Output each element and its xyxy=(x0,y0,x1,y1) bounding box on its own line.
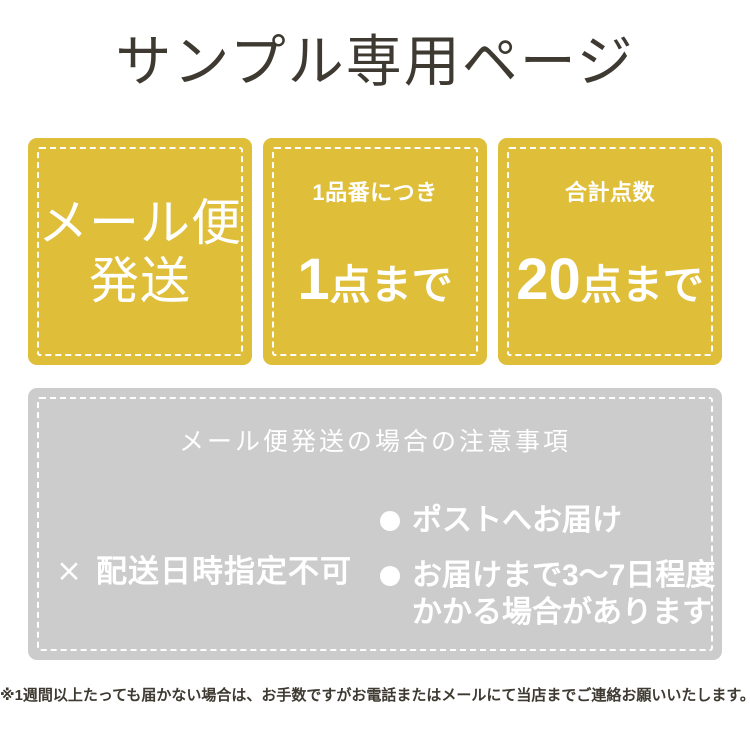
notice-bullet-label: ポストへお届け xyxy=(412,502,622,539)
card-per-item-limit-caption: 1品番につき xyxy=(263,180,487,206)
bullet-dot-icon xyxy=(380,566,400,586)
feature-card-row: メール便 発送 1品番につき 1点まで 合計点数 20点まで xyxy=(28,138,722,365)
card-per-item-limit-content: 1品番につき 1点まで xyxy=(263,180,487,323)
card-total-limit: 合計点数 20点まで xyxy=(498,138,722,365)
card-mail-delivery-line2: 発送 xyxy=(28,252,252,310)
card-per-item-limit: 1品番につき 1点まで xyxy=(263,138,487,365)
card-per-item-limit-number: 1 xyxy=(297,247,329,312)
card-per-item-limit-value: 1点まで xyxy=(263,252,487,323)
page-title: サンプル専用ページ xyxy=(0,30,750,96)
card-total-limit-value: 20点まで xyxy=(498,252,722,323)
card-mail-delivery: メール便 発送 xyxy=(28,138,252,365)
notice-restriction-label: 配送日時指定不可 xyxy=(96,556,352,587)
footnote-text: ※1週間以上たっても届かない場合は、お手数ですがお電話またはメールにて当店までご… xyxy=(0,686,750,706)
notice-bullet-list: ポストへお届け お届けまで3〜7日程度 かかる場合があります xyxy=(380,496,722,631)
notice-bullet-line2: かかる場合があります xyxy=(412,594,715,631)
notice-bullet-line1: お届けまで3〜7日程度 xyxy=(412,559,715,592)
card-total-limit-caption: 合計点数 xyxy=(498,180,722,206)
card-mail-delivery-content: メール便 発送 xyxy=(28,194,252,310)
bullet-dot-icon xyxy=(380,511,400,531)
notice-restriction-item: × 配送日時指定不可 xyxy=(28,496,380,646)
card-total-limit-unit: 点まで xyxy=(581,262,704,308)
notice-bullet-label: お届けまで3〜7日程度 かかる場合があります xyxy=(412,557,715,631)
notice-bullet-line1: ポストへお届け xyxy=(412,504,622,537)
list-item: お届けまで3〜7日程度 かかる場合があります xyxy=(380,557,722,631)
notice-panel: メール便発送の場合の注意事項 × 配送日時指定不可 ポストへお届け お届けまで3… xyxy=(28,388,722,660)
card-total-limit-number: 20 xyxy=(516,247,581,312)
card-total-limit-content: 合計点数 20点まで xyxy=(498,180,722,323)
card-mail-delivery-line1: メール便 xyxy=(28,194,252,252)
notice-panel-body: × 配送日時指定不可 ポストへお届け お届けまで3〜7日程度 かかる場合がありま… xyxy=(28,496,722,646)
list-item: ポストへお届け xyxy=(380,502,722,539)
notice-panel-title: メール便発送の場合の注意事項 xyxy=(28,426,722,458)
card-per-item-limit-unit: 点まで xyxy=(330,262,453,308)
cross-icon: × xyxy=(56,556,82,587)
